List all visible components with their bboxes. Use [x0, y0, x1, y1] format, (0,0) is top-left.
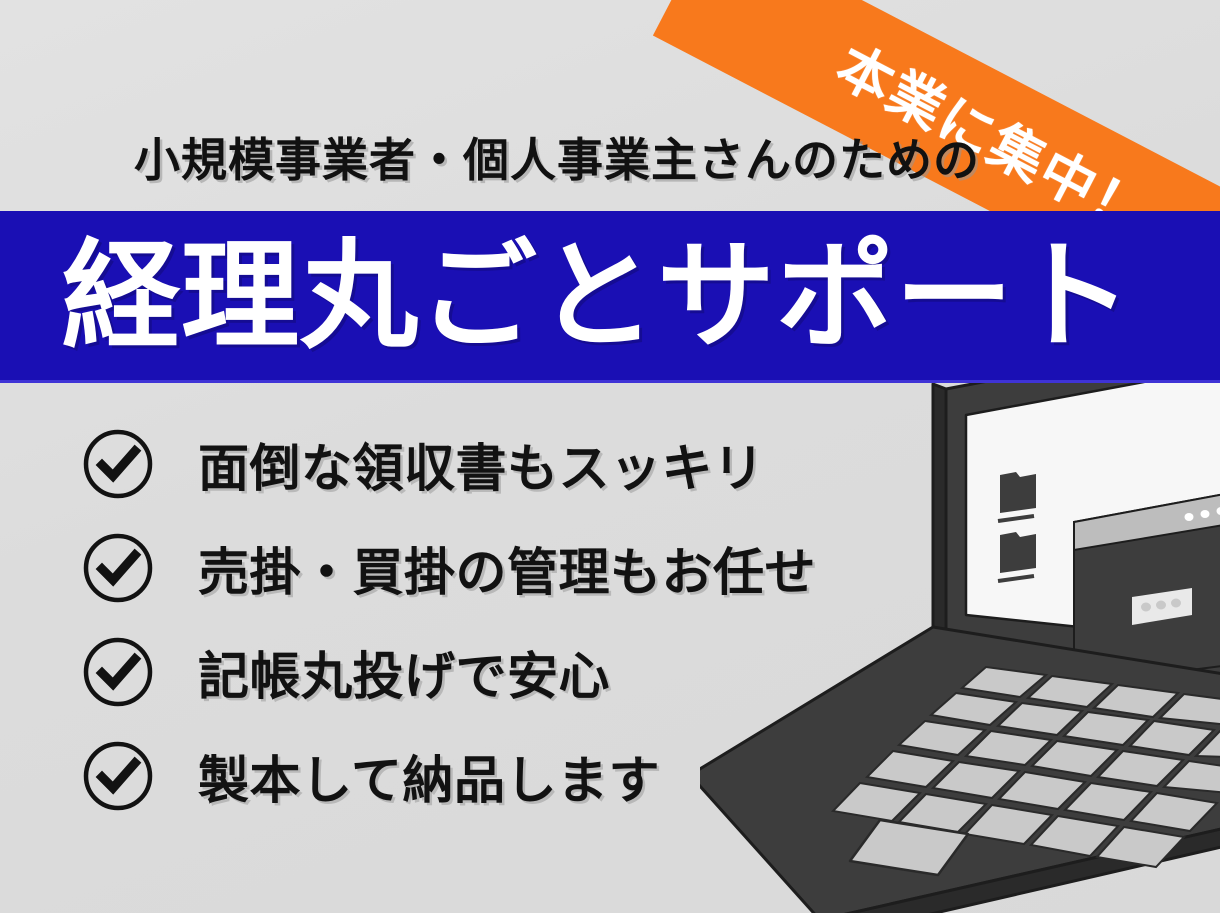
- list-item: 売掛・買掛の管理もお任せ: [82, 516, 902, 620]
- list-item-label: 製本して納品します: [198, 739, 660, 813]
- check-circle-icon: [82, 636, 154, 708]
- poster-root: 本業に集中！ 小規模事業者・個人事業主さんのための 経理丸ごとサポート 面倒な領…: [0, 0, 1220, 913]
- list-item-label: 売掛・買掛の管理もお任せ: [198, 531, 816, 605]
- list-item-label: 面倒な領収書もスッキリ: [198, 427, 765, 501]
- headline-title: 経理丸ごとサポート: [0, 238, 1133, 356]
- list-item: 面倒な領収書もスッキリ: [82, 412, 902, 516]
- check-circle-icon: [82, 740, 154, 812]
- list-item-label: 記帳丸投げで安心: [198, 635, 610, 709]
- headline-band: 経理丸ごとサポート: [0, 211, 1220, 383]
- list-item: 記帳丸投げで安心: [82, 620, 902, 724]
- subtitle-text: 小規模事業者・個人事業主さんのための: [134, 124, 980, 190]
- benefit-list: 面倒な領収書もスッキリ 売掛・買掛の管理もお任せ 記帳丸投げで安心: [82, 412, 902, 828]
- list-item: 製本して納品します: [82, 724, 902, 828]
- check-circle-icon: [82, 532, 154, 604]
- check-circle-icon: [82, 428, 154, 500]
